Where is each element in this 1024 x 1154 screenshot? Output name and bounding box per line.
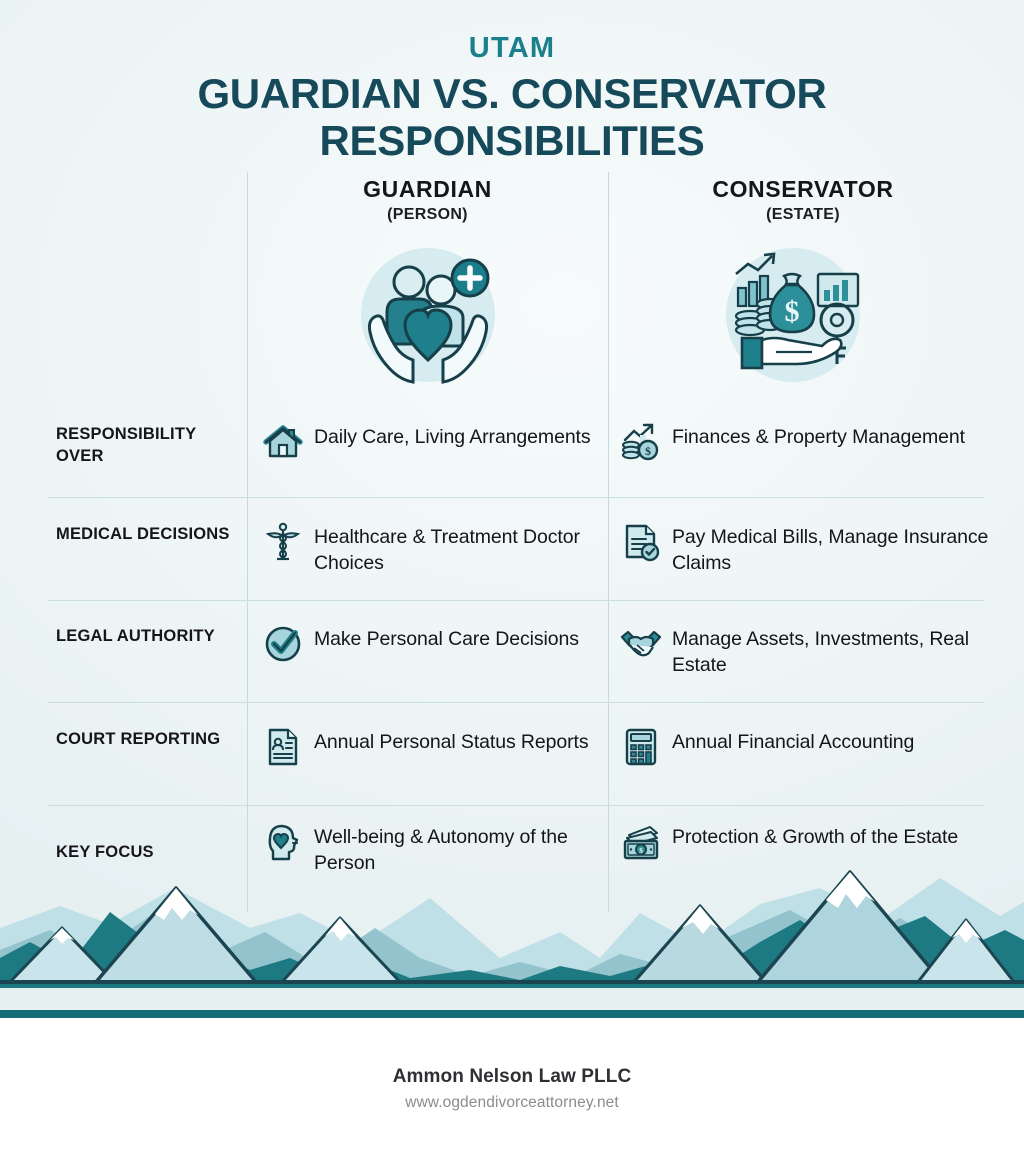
row-label: LEGAL AUTHORITY [56, 626, 236, 648]
house-icon [262, 421, 304, 463]
head-heart-icon [262, 821, 304, 863]
footer-brand-name: Ammon Nelson Law PLLC [0, 1066, 1024, 1088]
column-divider-2 [608, 172, 609, 912]
person-report-document-icon [262, 726, 304, 768]
calculator-icon [620, 726, 662, 768]
mountain-range-illustration [0, 858, 1024, 988]
cell-conservator: Manage Assets, Investments, Real Estate [620, 626, 1010, 679]
document-check-icon [620, 521, 662, 563]
cell-guardian: Healthcare & Treatment Doctor Choices [262, 524, 602, 577]
svg-text:$: $ [785, 295, 800, 328]
column-header-conservator: CONSERVATOR (ESTATE) [608, 176, 998, 224]
svg-text:$: $ [645, 444, 651, 458]
cell-text: Make Personal Care Decisions [314, 626, 579, 653]
row-divider-3 [48, 702, 984, 703]
bottom-accent-bar [0, 1010, 1024, 1018]
infographic-page: UTAM GUARDIAN VS. CONSERVATOR RESPONSIBI… [0, 0, 1024, 1154]
growth-chart-coins-dollar-icon: $ [620, 421, 662, 463]
eyebrow-state-label: UTAM [0, 32, 1024, 65]
cell-guardian: Daily Care, Living Arrangements [262, 424, 602, 463]
check-circle-icon [262, 623, 304, 665]
svg-text:$: $ [639, 846, 643, 855]
column-header-conservator-scope: (ESTATE) [608, 206, 998, 224]
hand-money-bag-assets-icon: $ [718, 240, 868, 390]
cell-text: Daily Care, Living Arrangements [314, 424, 591, 451]
cell-text: Annual Personal Status Reports [314, 729, 589, 756]
handshake-icon [620, 623, 662, 665]
row-label: COURT REPORTING [56, 729, 236, 751]
column-header-guardian-name: GUARDIAN [247, 176, 608, 203]
cell-guardian: Make Personal Care Decisions [262, 626, 602, 665]
caring-hands-heart-family-icon [353, 240, 503, 390]
cell-text: Manage Assets, Investments, Real Estate [672, 626, 1010, 679]
cash-banknotes-icon: $ [620, 821, 662, 863]
cell-text: Protection & Growth of the Estate [672, 824, 958, 851]
row-divider-1 [48, 497, 984, 498]
cell-text: Finances & Property Management [672, 424, 965, 451]
infographic-panel: UTAM GUARDIAN VS. CONSERVATOR RESPONSIBI… [0, 0, 1024, 1018]
column-divider-1 [247, 172, 248, 912]
column-header-guardian: GUARDIAN (PERSON) [247, 176, 608, 224]
column-header-conservator-name: CONSERVATOR [608, 176, 998, 203]
footer-website-url[interactable]: www.ogdendivorceattorney.net [0, 1094, 1024, 1112]
page-title-line-2: RESPONSIBILITIES [0, 117, 1024, 165]
cell-text: Annual Financial Accounting [672, 729, 914, 756]
row-label: RESPONSIBILITY OVER [56, 424, 236, 468]
footer: Ammon Nelson Law PLLC www.ogdendivorceat… [0, 1018, 1024, 1154]
cell-conservator: Annual Financial Accounting [620, 729, 1010, 768]
row-divider-4 [48, 805, 984, 806]
row-divider-2 [48, 600, 984, 601]
cell-conservator: $ Finances & Property Management [620, 424, 1010, 463]
caduceus-icon [262, 521, 304, 563]
cell-guardian: Annual Personal Status Reports [262, 729, 602, 768]
page-title-line-1: GUARDIAN VS. CONSERVATOR [0, 70, 1024, 118]
column-header-guardian-scope: (PERSON) [247, 206, 608, 224]
cell-conservator: Pay Medical Bills, Manage Insurance Clai… [620, 524, 1010, 577]
cell-text: Pay Medical Bills, Manage Insurance Clai… [672, 524, 1010, 577]
cell-text: Healthcare & Treatment Doctor Choices [314, 524, 602, 577]
row-label: MEDICAL DECISIONS [56, 524, 236, 546]
